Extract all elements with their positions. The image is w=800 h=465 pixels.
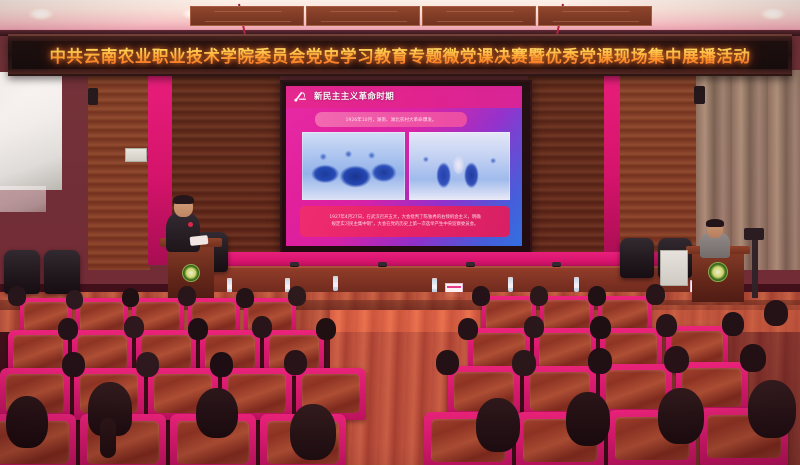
stage-chair-4 [620,238,654,278]
slide-caption-bottom-line1: 1927年4月27日，在武汉召开五大，大会批判了陈独秀的右倾机会主义，明确 [329,215,480,222]
led-banner-text: 中共云南农业职业技术学院委员会党史学习教育专题微党课决赛暨优秀党课现场集中展播活… [49,43,750,67]
party-emblem-icon [292,89,309,104]
water-bottle-3 [333,276,338,291]
seat-pad [13,335,63,370]
audience-head [512,350,536,376]
auditorium-photo: 新民主主义革命时期 1926年10月，湖南、湖北农村大革命爆发。 1927年4月… [0,0,800,465]
school-crest-right-icon [708,262,728,282]
audience-head [252,316,272,338]
speaker-torso [166,212,200,252]
audience-head-foreground [748,380,796,438]
audience-head-foreground [476,398,520,452]
audience-head [122,288,139,307]
audience-head [472,286,490,306]
audience-head [664,346,689,373]
wall-speaker-right [694,86,705,104]
seat-pad [80,302,124,333]
audience-head [288,286,306,306]
audience-head [188,318,208,340]
judges-table-panel-2 [306,6,420,26]
slide-photo-right [409,132,510,200]
wood-panel-right [620,70,698,265]
seat-pad [544,300,590,331]
seat-pad [606,370,666,409]
judges-table-panel-3 [422,6,536,26]
led-banner-screen: 中共云南农业职业技术学院委员会党史学习教育专题微党课决赛暨优秀党课现场集中展播活… [12,41,788,69]
school-crest-left-icon [182,264,200,282]
audience-head-foreground [6,396,48,448]
audience-head [58,318,78,340]
projection-screen-frame: 新民主主义革命时期 1926年10月，湖南、湖北农村大革命爆发。 1927年4月… [280,80,532,256]
speaker-hands-paper [190,235,209,246]
audience-head [524,316,544,338]
audience-head [530,286,548,306]
audience-head-foreground [566,392,610,446]
table-microphone-3 [378,262,387,266]
audience-head [656,314,677,337]
window-light-left-lower [0,186,46,212]
water-bottle-5 [508,277,513,292]
audience-head [284,350,307,375]
speaker-shirt-logo [188,222,193,227]
wood-panel-right-inner [528,70,606,260]
stage-chair-2 [44,250,80,294]
table-microphone-2 [290,262,299,266]
speaker-hair [173,195,194,204]
audience-head [210,352,233,377]
audience-head [436,350,459,375]
led-banner: 中共云南农业职业技术学院委员会党史学习教育专题微党课决赛暨优秀党课现场集中展播活… [8,34,792,76]
slide-caption-bottom: 1927年4月27日，在武汉召开五大，大会批判了陈独秀的右倾机会主义，明确 规定… [300,206,510,237]
audience-head [764,300,788,326]
wall-control-panel[interactable] [125,148,147,162]
audience-head [62,352,85,377]
audience-head [316,318,336,340]
audience-head [588,286,606,306]
slide-photo-left [302,132,405,200]
ceiling-light-6 [760,7,786,20]
audience-head [722,312,744,336]
audience-head-foreground [658,388,704,444]
equipment-rack[interactable] [660,250,688,286]
water-bottle-4 [432,278,437,293]
audience-head [588,348,612,374]
table-microphone-4 [466,262,475,266]
slide-caption-top-text: 1926年10月，湖南、湖北农村大革命爆发。 [345,117,436,123]
audience-head [136,352,159,377]
seat-pad [539,333,591,368]
water-bottle-1 [227,278,232,293]
judges-table-panel-4 [538,6,652,26]
slide-caption-top: 1926年10月，湖南、湖北农村大革命爆发。 [315,112,467,127]
water-bottle-6 [574,277,579,292]
camera-tripod [752,236,758,298]
audience-head [124,316,144,338]
audience-head [646,284,665,305]
curtain-left [50,70,90,260]
camera-body [744,228,764,240]
projection-screen: 新民主主义革命时期 1926年10月，湖南、湖北农村大革命爆发。 1927年4月… [286,86,522,246]
audience-head [8,286,26,306]
slide-title: 新民主主义革命时期 [314,90,394,102]
audience-braid [100,418,116,458]
judges-table-panel-1 [190,6,304,26]
audience-head-foreground [290,404,336,460]
audience-head [236,288,254,308]
audience-head [590,316,611,339]
wall-speaker-left [88,88,98,105]
audience-head [66,290,83,309]
audience-head [458,318,478,340]
ceiling-light-1 [28,7,54,20]
audience-head-foreground [196,388,238,438]
slide-caption-bottom-line2: 规定实习民主集中制"，大会在党的历史上第一次选举产生中央监察委员会。 [332,222,479,229]
audience-head [178,286,196,306]
table-microphone-5 [552,262,561,266]
audience-head [740,344,766,372]
seat-pad [605,333,657,368]
operator-hair [706,219,724,227]
